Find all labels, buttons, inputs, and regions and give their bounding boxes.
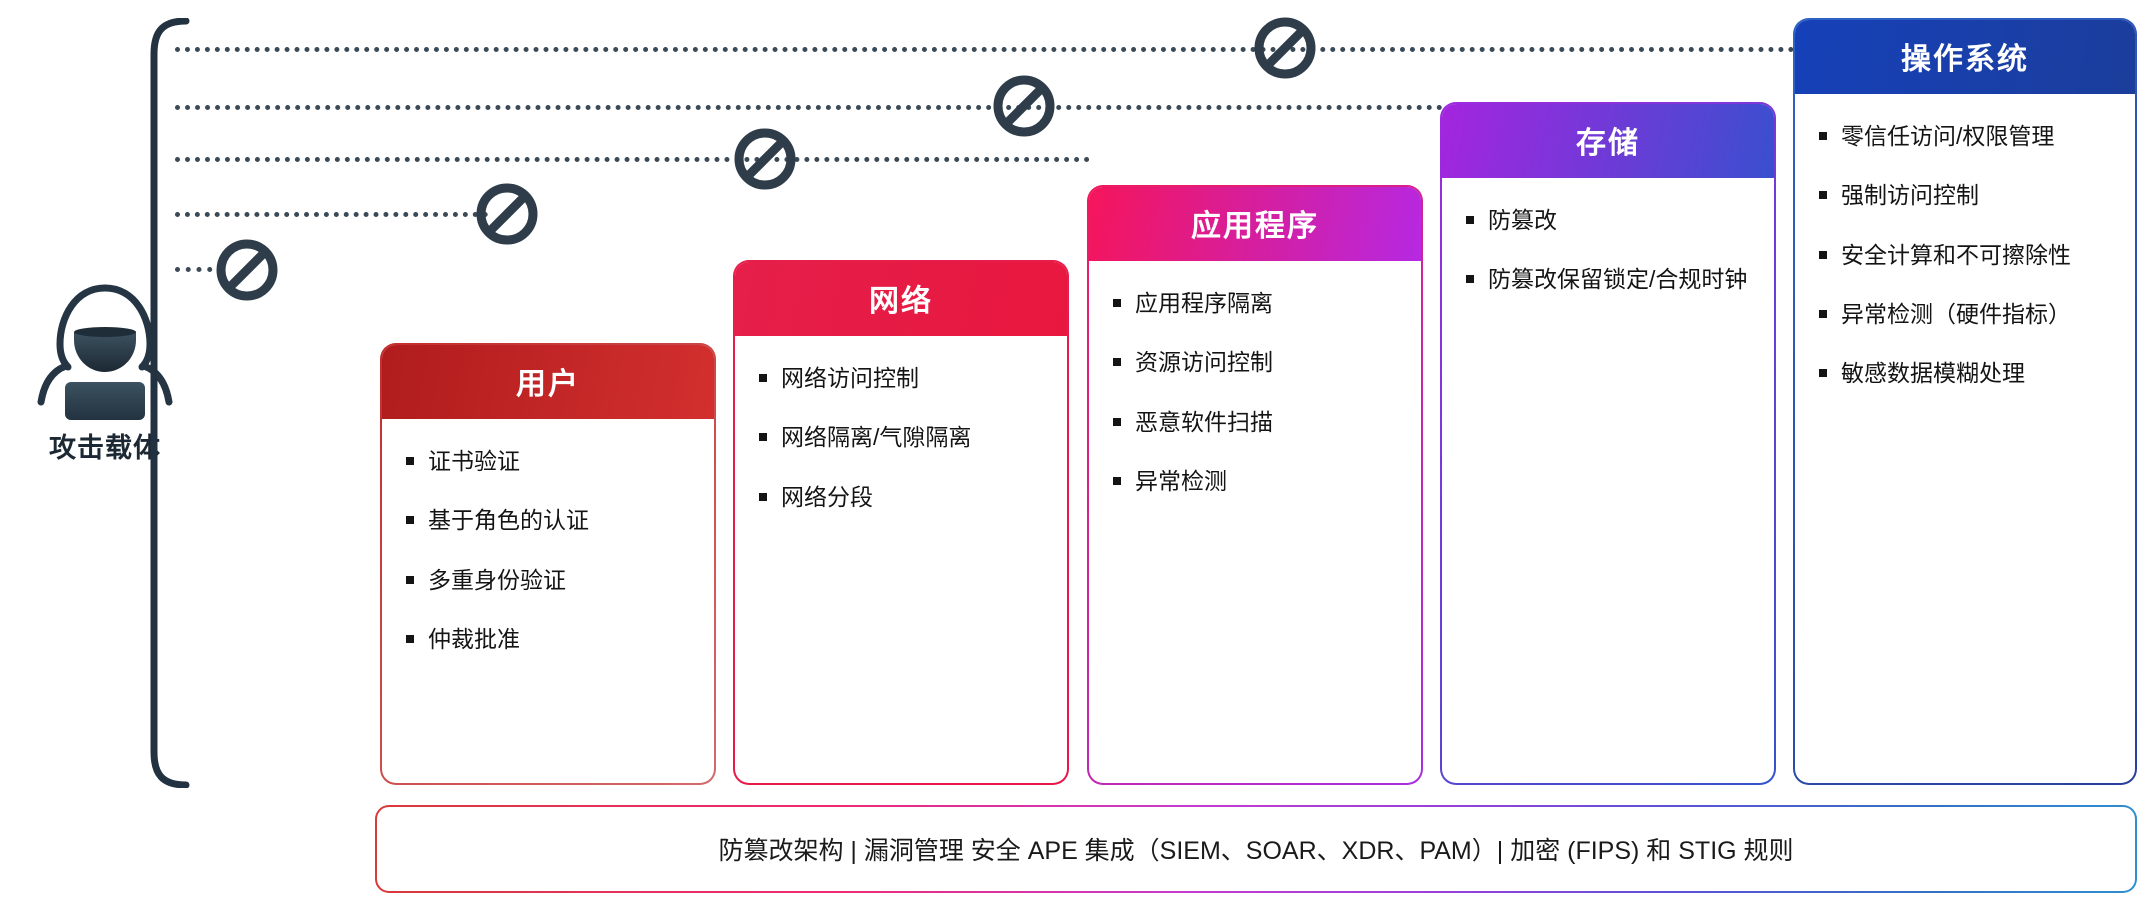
no-entry-icon-storage: [992, 74, 1056, 138]
list-item: 防篡改保留锁定/合规时钟: [1464, 263, 1760, 296]
attack-line-application: [175, 157, 1090, 162]
list-item: 零信任访问/权限管理: [1817, 120, 2121, 153]
layer-items-application: 应用程序隔离 资源访问控制 恶意软件扫描 异常检测: [1089, 261, 1421, 783]
layer-title-application: 应用程序: [1089, 187, 1421, 261]
list-item: 仲裁批准: [404, 623, 700, 656]
list-item: 异常检测: [1111, 465, 1407, 498]
list-item: 资源访问控制: [1111, 346, 1407, 379]
attack-bracket: [140, 18, 200, 788]
attack-line-storage: [175, 105, 1443, 110]
layer-card-network[interactable]: 网络 网络访问控制 网络隔离/气隙隔离 网络分段: [733, 260, 1069, 785]
list-item: 应用程序隔离: [1111, 287, 1407, 320]
list-item: 基于角色的认证: [404, 504, 700, 537]
diagram-canvas: 攻击载体 用户 证书验证 基于角色的认证 多重身份验证: [0, 0, 2146, 916]
list-item: 异常检测（硬件指标）: [1817, 298, 2121, 331]
list-item: 恶意软件扫描: [1111, 406, 1407, 439]
no-entry-icon-network: [475, 182, 539, 246]
list-item: 多重身份验证: [404, 564, 700, 597]
layer-card-application[interactable]: 应用程序 应用程序隔离 资源访问控制 恶意软件扫描 异常检测: [1087, 185, 1423, 785]
attack-line-network: [175, 212, 488, 217]
foundation-banner-text: 防篡改架构 | 漏洞管理 安全 APE 集成（SIEM、SOAR、XDR、PAM…: [718, 831, 1793, 867]
foundation-banner: 防篡改架构 | 漏洞管理 安全 APE 集成（SIEM、SOAR、XDR、PAM…: [375, 805, 2137, 893]
list-item: 敏感数据模糊处理: [1817, 357, 2121, 390]
attack-line-os: [175, 47, 1795, 52]
layer-items-network: 网络访问控制 网络隔离/气隙隔离 网络分段: [735, 336, 1067, 783]
list-item: 网络分段: [757, 481, 1053, 514]
layer-items-storage: 防篡改 防篡改保留锁定/合规时钟: [1442, 178, 1774, 783]
list-item: 网络隔离/气隙隔离: [757, 421, 1053, 454]
list-item: 防篡改: [1464, 204, 1760, 237]
layer-card-os[interactable]: 操作系统 零信任访问/权限管理 强制访问控制 安全计算和不可擦除性 异常检测（硬…: [1793, 18, 2137, 785]
layer-items-os: 零信任访问/权限管理 强制访问控制 安全计算和不可擦除性 异常检测（硬件指标） …: [1795, 94, 2135, 783]
list-item: 强制访问控制: [1817, 179, 2121, 212]
layer-items-user: 证书验证 基于角色的认证 多重身份验证 仲裁批准: [382, 419, 714, 783]
layer-title-network: 网络: [735, 262, 1067, 336]
no-entry-icon-application: [733, 127, 797, 191]
no-entry-icon-user: [215, 238, 279, 302]
layer-card-user[interactable]: 用户 证书验证 基于角色的认证 多重身份验证 仲裁批准: [380, 343, 716, 785]
layer-title-os: 操作系统: [1795, 20, 2135, 94]
layer-title-storage: 存储: [1442, 104, 1774, 178]
list-item: 网络访问控制: [757, 362, 1053, 395]
no-entry-icon-os: [1253, 16, 1317, 80]
layer-title-user: 用户: [382, 345, 714, 419]
layer-card-storage[interactable]: 存储 防篡改 防篡改保留锁定/合规时钟: [1440, 102, 1776, 785]
list-item: 安全计算和不可擦除性: [1817, 239, 2121, 272]
list-item: 证书验证: [404, 445, 700, 478]
